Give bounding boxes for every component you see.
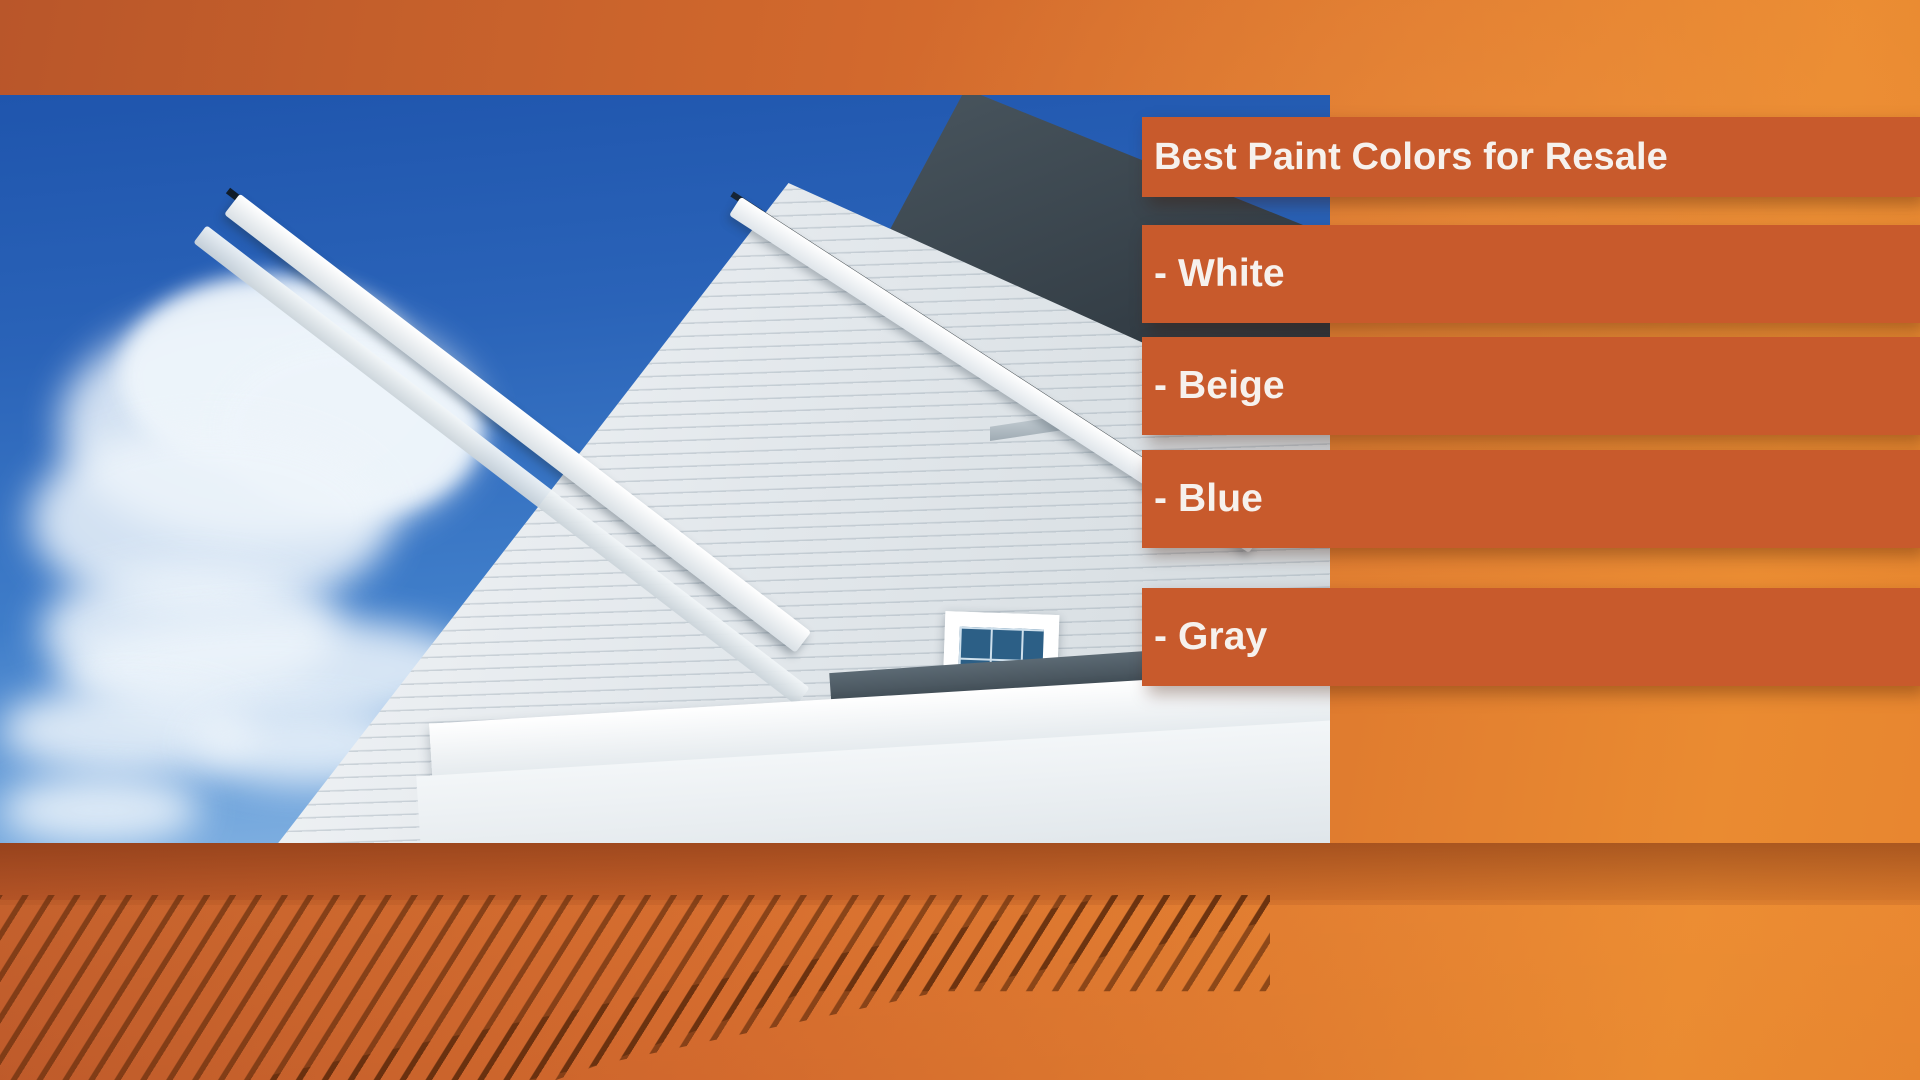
list-item-label: - Beige bbox=[1142, 364, 1285, 408]
title-bar: Best Paint Colors for Resale bbox=[1142, 117, 1920, 197]
photo-frame bbox=[0, 95, 1330, 843]
broadcast-graphic-stage: Best Paint Colors for Resale - White - B… bbox=[0, 0, 1920, 1080]
list-item[interactable]: - White bbox=[1142, 225, 1920, 323]
diagonal-stripe-graphic bbox=[0, 895, 1270, 1080]
list-item-label: - Blue bbox=[1142, 477, 1263, 521]
list-item-label: - White bbox=[1142, 252, 1285, 296]
list-item[interactable]: - Gray bbox=[1142, 588, 1920, 686]
list-item[interactable]: - Beige bbox=[1142, 337, 1920, 435]
list-item[interactable]: - Blue bbox=[1142, 450, 1920, 548]
list-item-label: - Gray bbox=[1142, 615, 1267, 659]
house-illustration bbox=[0, 95, 1330, 843]
page-title: Best Paint Colors for Resale bbox=[1142, 136, 1668, 179]
